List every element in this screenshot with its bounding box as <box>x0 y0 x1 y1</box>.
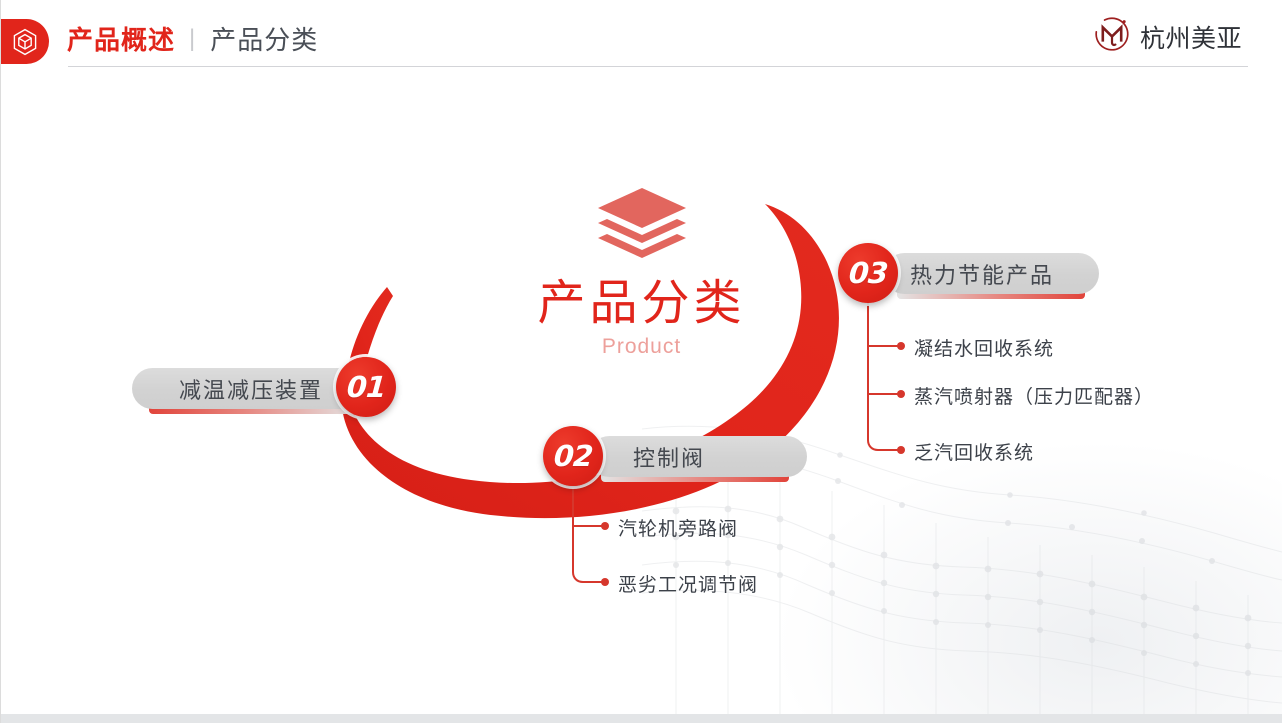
node-02-pill[interactable]: 控制阀 <box>589 436 807 477</box>
header-divider <box>68 66 1248 67</box>
bottom-bar <box>1 714 1282 723</box>
node-02-child-1[interactable]: 恶劣工况调节阀 <box>618 570 758 597</box>
node-03-child-0[interactable]: 凝结水回收系统 <box>914 334 1054 361</box>
node-03-child-1[interactable]: 蒸汽喷射器（压力匹配器） <box>914 382 1154 409</box>
header-bar: 产品概述 | 产品分类 杭州美亚 <box>1 0 1282 67</box>
center-subtitle: Product <box>1 335 1282 359</box>
cube-hexagon-icon <box>12 28 38 56</box>
connector-lines <box>1 0 1282 723</box>
node-03-pill[interactable]: 热力节能产品 <box>884 253 1099 294</box>
background-blob <box>762 433 1282 723</box>
circle-m-logo-icon <box>1093 15 1131 58</box>
node-03-number: 03 <box>848 256 889 290</box>
brand-lockup: 杭州美亚 <box>1093 15 1242 58</box>
breadcrumb: 产品概述 | 产品分类 <box>67 20 318 57</box>
node-02-number: 02 <box>553 439 594 473</box>
header-badge <box>0 19 49 64</box>
slide-canvas: 产品概述 | 产品分类 杭州美亚 <box>0 0 1282 723</box>
red-swoosh-arrow <box>1 0 1282 723</box>
node-01-label: 减温减压装置 <box>179 373 323 405</box>
node-01-pill[interactable]: 减温减压装置 <box>132 368 365 409</box>
node-01-number: 01 <box>346 370 387 404</box>
node-02-child-0[interactable]: 汽轮机旁路阀 <box>618 514 738 541</box>
breadcrumb-secondary[interactable]: 产品分类 <box>210 20 318 57</box>
brand-name: 杭州美亚 <box>1140 19 1242 55</box>
node-01-circle[interactable]: 01 <box>336 357 396 417</box>
node-02-label: 控制阀 <box>633 441 705 473</box>
node-03-child-2[interactable]: 乏汽回收系统 <box>914 438 1034 465</box>
node-03-circle[interactable]: 03 <box>838 243 898 303</box>
node-02-circle[interactable]: 02 <box>543 426 603 486</box>
breadcrumb-primary[interactable]: 产品概述 <box>67 20 175 57</box>
breadcrumb-separator: | <box>189 25 196 53</box>
node-03-label: 热力节能产品 <box>910 258 1054 290</box>
